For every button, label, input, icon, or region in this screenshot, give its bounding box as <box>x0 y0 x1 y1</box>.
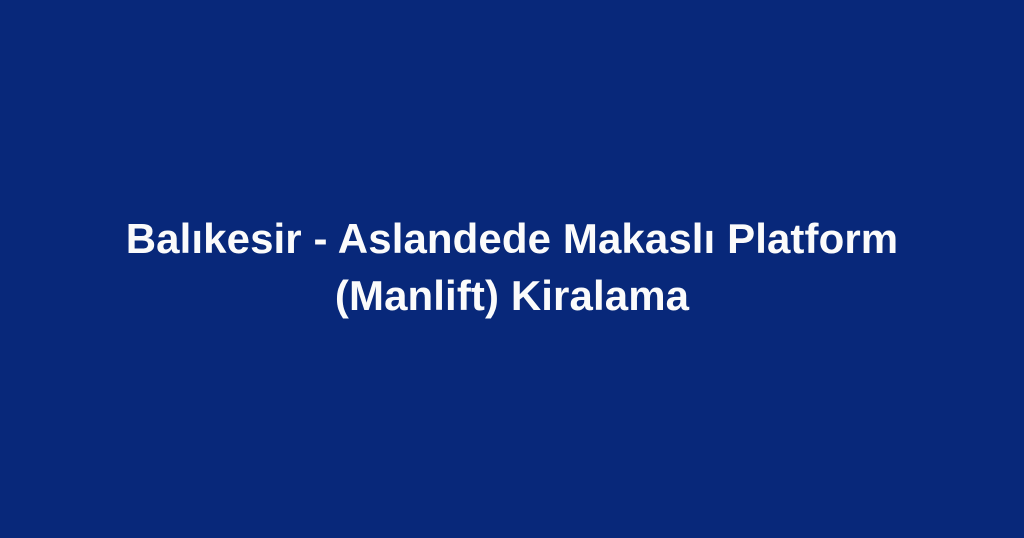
share-card: Balıkesir - Aslandede Makaslı Platform (… <box>0 0 1024 538</box>
card-content: Balıkesir - Aslandede Makaslı Platform (… <box>0 210 1024 324</box>
page-title: Balıkesir - Aslandede Makaslı Platform (… <box>96 210 928 324</box>
